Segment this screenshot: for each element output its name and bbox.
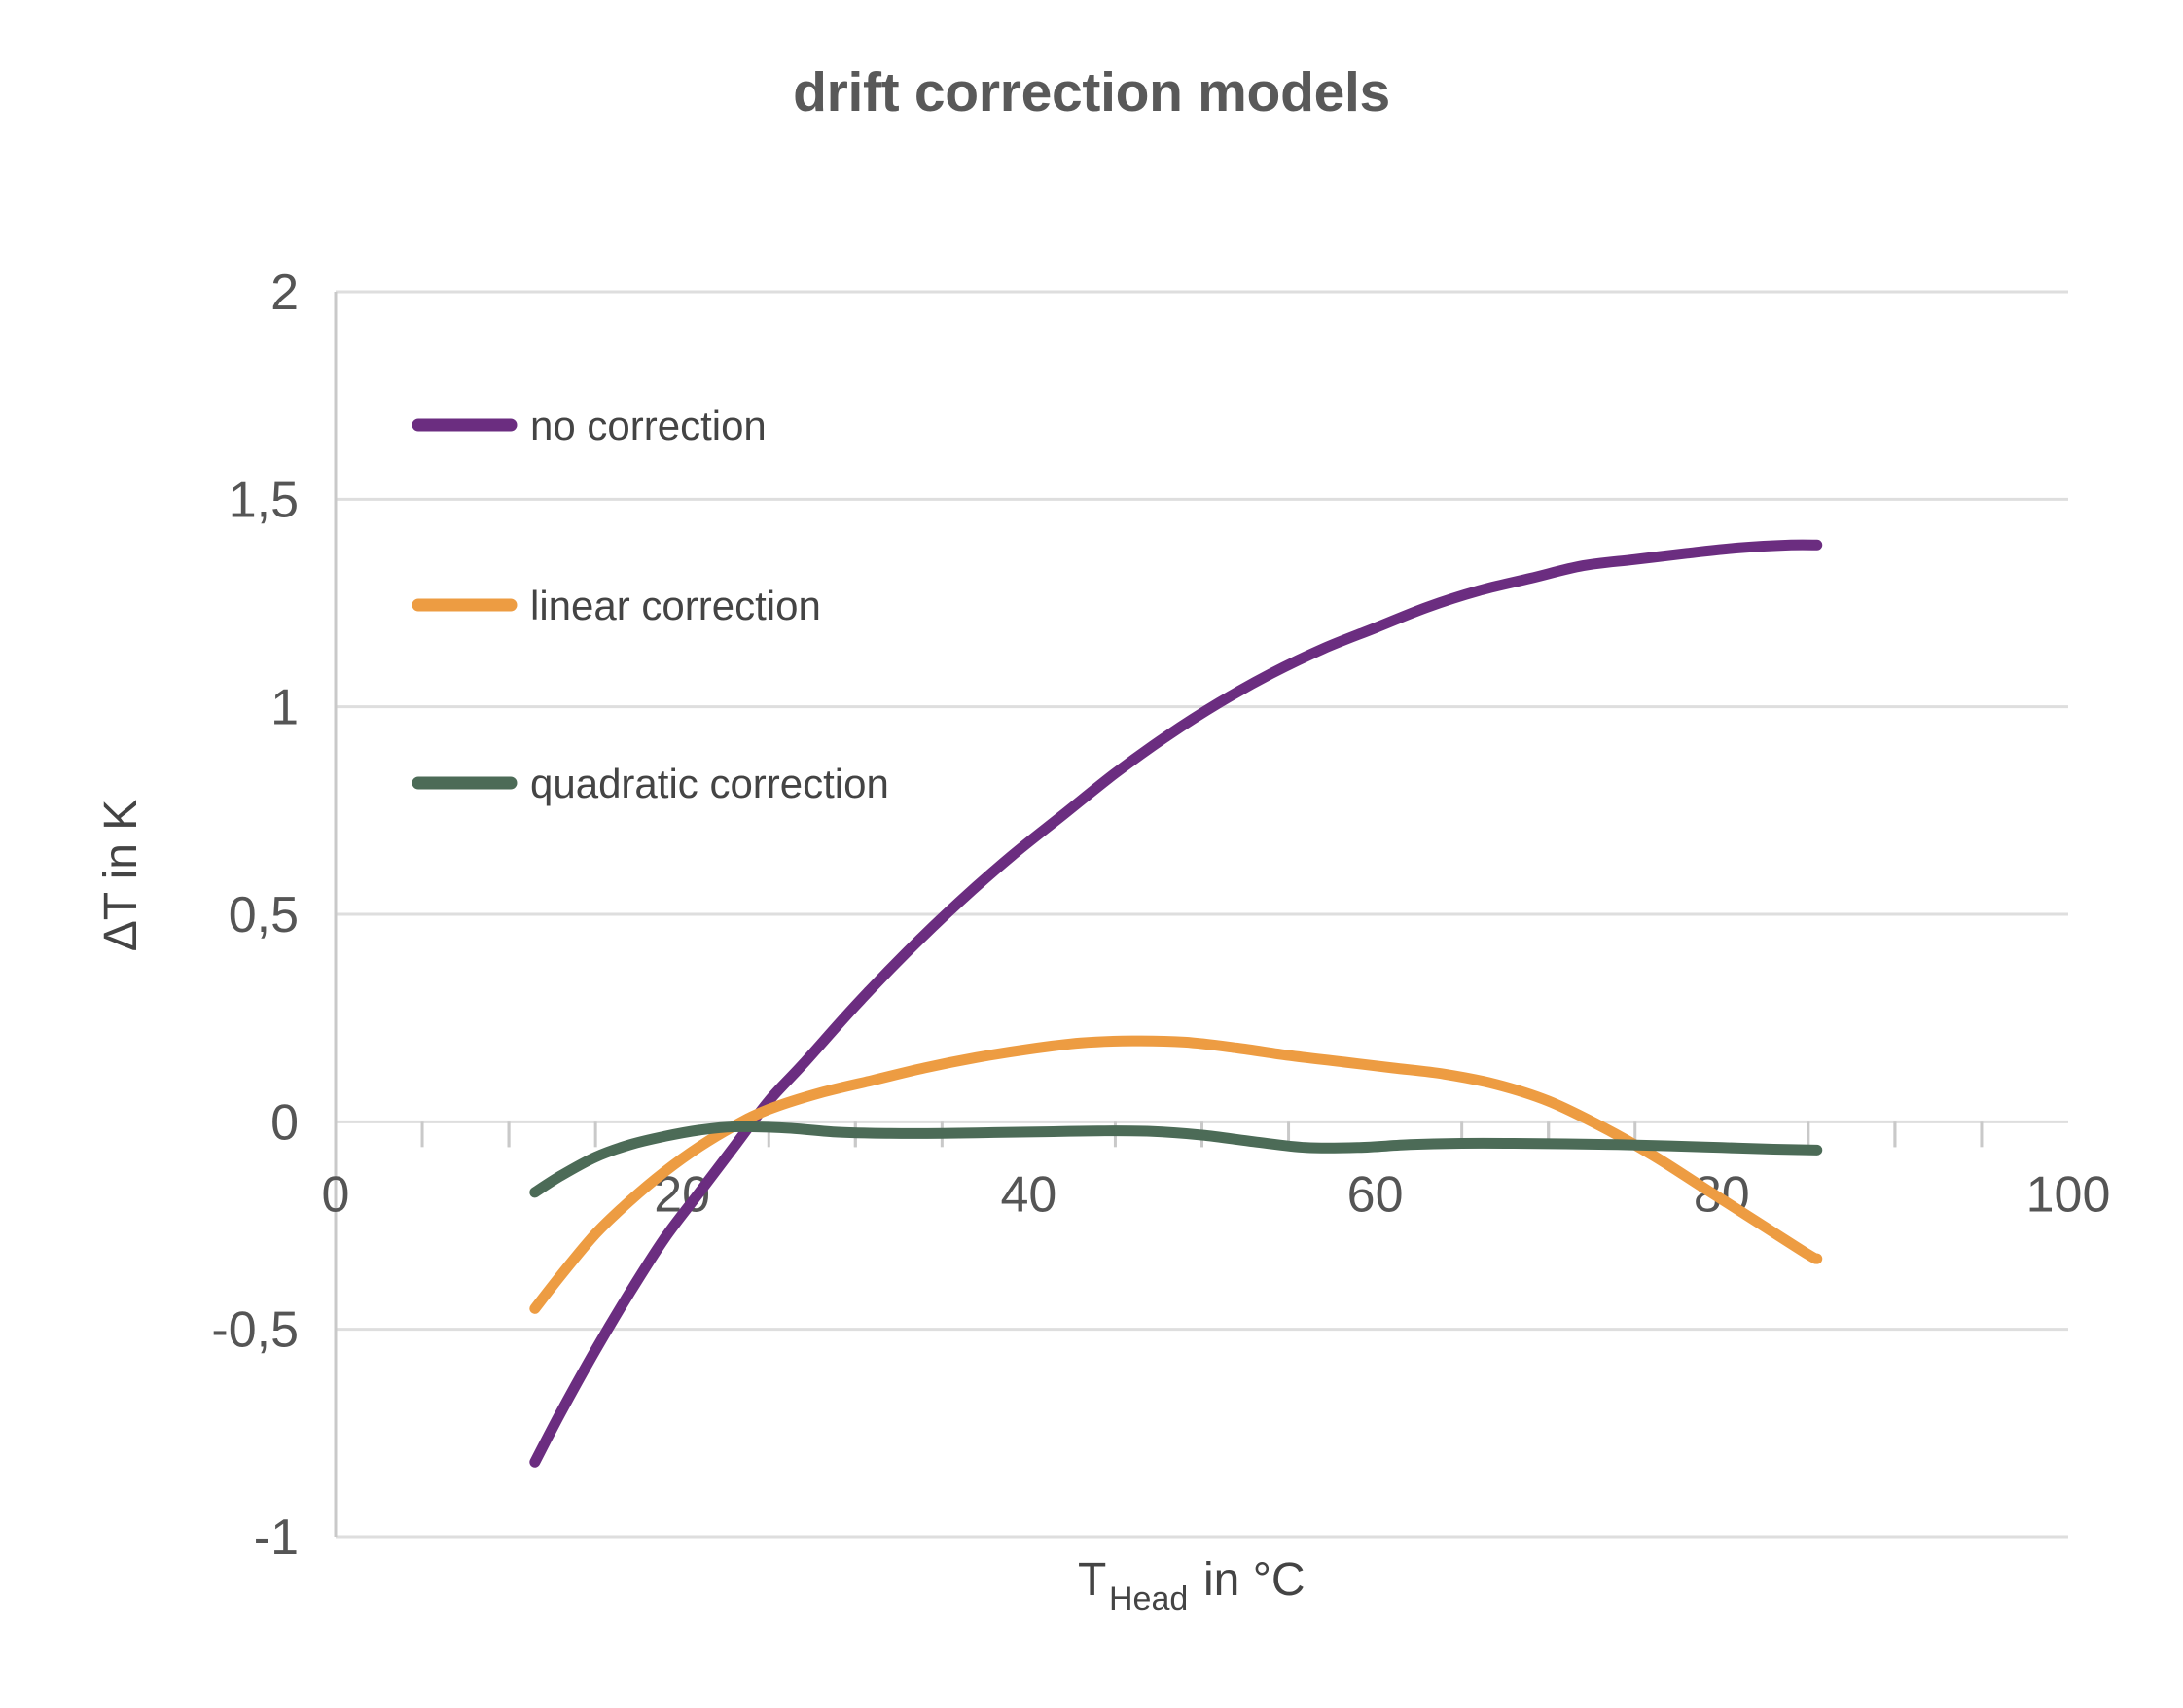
y-tick-label: -1 [254,1510,299,1566]
y-tick-label: 0 [270,1094,299,1151]
line-chart-svg: -1-0,500,511,52 020406080100 no correcti… [0,0,2183,1708]
y-tick-labels: -1-0,500,511,52 [211,265,299,1566]
legend-label-quadratic-correction[interactable]: quadratic correction [530,761,889,806]
legend[interactable]: no correctionlinear correctionquadratic … [418,403,889,806]
x-tick-label: 40 [1000,1166,1056,1223]
series-line-no-correction [535,545,1817,1462]
legend-label-no-correction[interactable]: no correction [530,403,767,448]
x-axis-title-tail: in °C [1203,1554,1306,1606]
y-tick-label: -0,5 [211,1302,299,1359]
series-lines [535,545,1817,1462]
chart-root: drift correction models -1-0,500,511,52 … [0,0,2183,1708]
y-tick-label: 2 [270,265,299,321]
x-tick-label: 100 [2026,1166,2111,1223]
y-tick-label: 1 [270,680,299,736]
x-tick-label: 0 [322,1166,350,1223]
x-axis-title-subscript: Head [1109,1581,1188,1618]
y-tick-label: 0,5 [229,887,299,943]
x-tick-labels: 020406080100 [322,1166,2111,1223]
y-axis-title: ΔT in K [95,800,147,952]
x-tick-label: 60 [1347,1166,1404,1223]
y-tick-label: 1,5 [229,472,299,528]
x-axis-title-main: T [1078,1554,1106,1606]
legend-label-linear-correction[interactable]: linear correction [530,583,821,628]
series-line-linear-correction [535,1041,1817,1308]
